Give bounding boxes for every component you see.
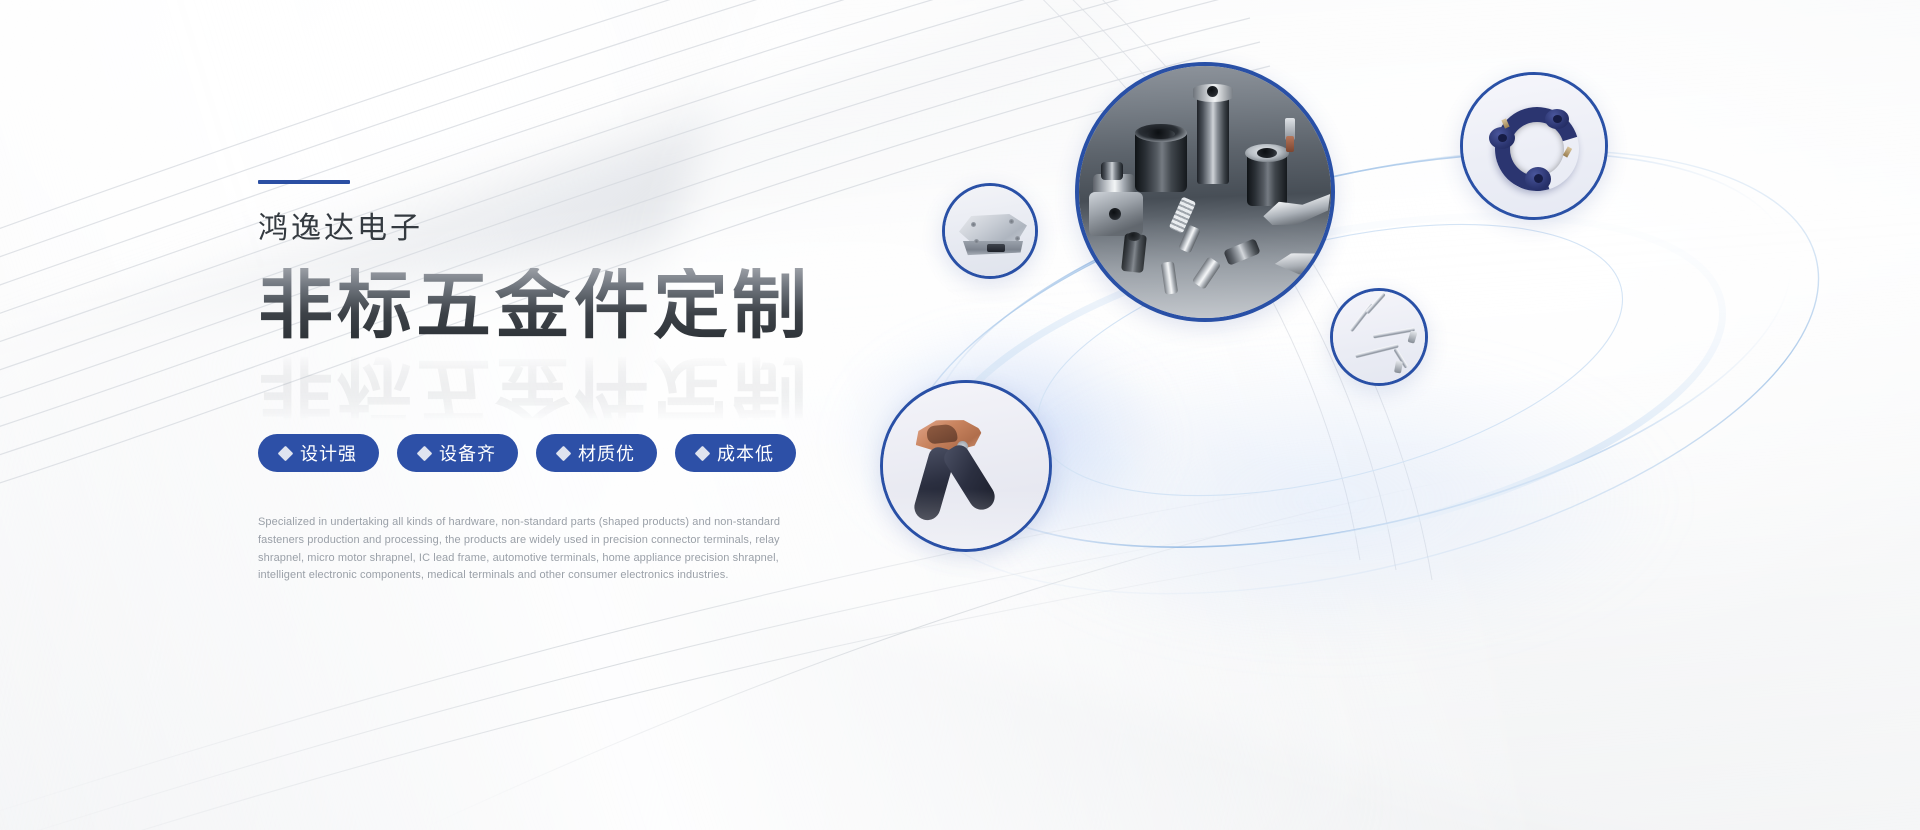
bubble-metal-enclosure[interactable] — [942, 183, 1038, 279]
feature-tag-list: 设计强 设备齐 材质优 成本低 — [258, 434, 898, 472]
headline-reflection: 非标五金件定制 — [258, 352, 811, 427]
hardware-parts-photo — [1079, 66, 1331, 318]
diamond-icon — [278, 445, 294, 461]
feature-tag-label: 设备齐 — [439, 440, 496, 466]
feature-tag-design[interactable]: 设计强 — [258, 434, 379, 472]
feature-tag-material[interactable]: 材质优 — [536, 434, 657, 472]
accent-rule — [258, 180, 350, 184]
headline-block: 非标五金件定制 非标五金件定制 — [258, 268, 898, 420]
feature-tag-equipment[interactable]: 设备齐 — [397, 434, 518, 472]
feature-tag-label: 成本低 — [717, 440, 774, 466]
bent-wire-pins-photo — [1333, 291, 1425, 383]
company-description: Specialized in undertaking all kinds of … — [258, 514, 823, 585]
diamond-icon — [556, 445, 572, 461]
battery-clamp-photo — [883, 383, 1049, 549]
hero-banner: 鸿逸达电子 非标五金件定制 非标五金件定制 设计强 设备齐 材质优 成本低 — [0, 0, 1920, 830]
feature-tag-label: 设计强 — [300, 440, 357, 466]
bubble-hardware-parts[interactable] — [1075, 62, 1335, 322]
brand-name: 鸿逸达电子 — [258, 214, 898, 244]
metal-enclosure-photo — [945, 186, 1035, 276]
bubble-battery-clamp[interactable] — [880, 380, 1052, 552]
diamond-icon — [695, 445, 711, 461]
product-showcase — [860, 0, 1920, 830]
diamond-icon — [417, 445, 433, 461]
bubble-wire-pins[interactable] — [1330, 288, 1428, 386]
blue-retaining-ring-photo — [1463, 75, 1605, 217]
feature-tag-label: 材质优 — [578, 440, 635, 466]
feature-tag-cost[interactable]: 成本低 — [675, 434, 796, 472]
page-title: 非标五金件定制 — [258, 268, 898, 343]
hero-content: 鸿逸达电子 非标五金件定制 非标五金件定制 设计强 设备齐 材质优 成本低 — [258, 180, 898, 585]
bubble-retaining-ring[interactable] — [1460, 72, 1608, 220]
